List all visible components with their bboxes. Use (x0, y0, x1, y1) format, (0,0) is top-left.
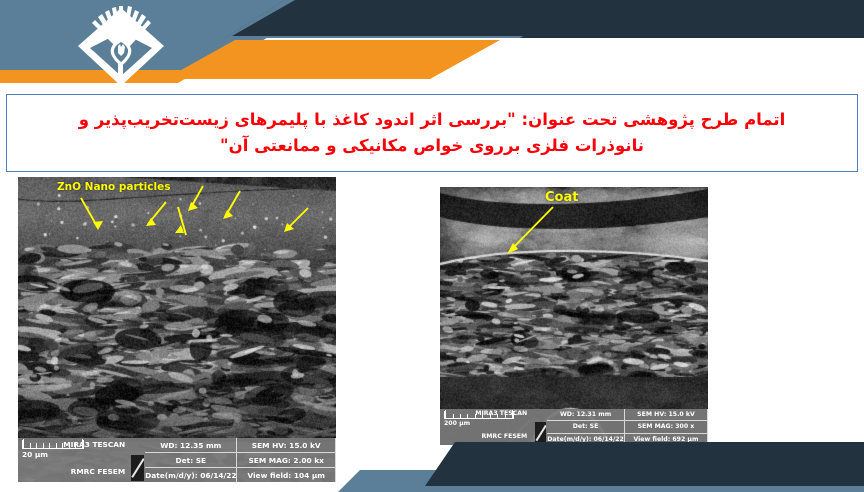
university-logo (72, 2, 170, 88)
sem-right-annotations (440, 187, 708, 445)
header-band (0, 0, 864, 88)
header-navy-top (232, 0, 864, 36)
title-box: اتمام طرح پژوهشی تحت عنوان: "بررسی اثر ا… (6, 94, 858, 172)
sem-right-infobar: SEM HV: 15.0 kV SEM MAG: 300 x View fiel… (440, 409, 708, 445)
sem-right-det: Det: SE (547, 421, 624, 433)
sem-left-annotations (18, 177, 336, 482)
footer-slate-shape (338, 470, 864, 492)
page-title: اتمام طرح پژوهشی تحت عنوان: "بررسی اثر ا… (71, 107, 794, 158)
sem-left-lab: RMRC FESEM (71, 467, 126, 476)
sem-left-wd: WD: 12.35 mm (145, 438, 236, 453)
sem-left-info-col-3: 20 µm MIRA3 TESCAN RMRC FESEM (18, 438, 145, 482)
sem-left-hv: SEM HV: 15.0 kV (237, 438, 335, 453)
title-line-2: نانوذرات فلزی برروی خواص مکانیکی و ممانع… (220, 136, 644, 155)
sem-left-label: ZnO Nano particles (57, 181, 170, 193)
title-line-1: اتمام طرح پژوهشی تحت عنوان: "بررسی اثر ا… (79, 110, 786, 129)
sem-right-date: Date(m/d/y): 06/14/22 (547, 434, 624, 445)
sem-left-date: Date(m/d/y): 06/14/22 (145, 468, 236, 482)
sem-left-det: Det: SE (145, 453, 236, 468)
sem-left-viewfield: View field: 104 µm (237, 468, 335, 482)
sem-right-info-col-3: 200 µm MIRA3 TESCAN RMRC FESEM (440, 409, 547, 445)
sem-right-hv: SEM HV: 15.0 kV (625, 409, 707, 421)
sem-right-viewfield: View field: 692 µm (625, 434, 707, 445)
sem-right-lab: RMRC FESEM (482, 433, 528, 440)
footer-navy-shape (425, 442, 864, 486)
sem-left-info-col-2: WD: 12.35 mm Det: SE Date(m/d/y): 06/14/… (145, 438, 237, 482)
sem-left-mag: SEM MAG: 2.00 kx (237, 453, 335, 468)
slide-root: اتمام طرح پژوهشی تحت عنوان: "بررسی اثر ا… (0, 0, 864, 492)
sem-image-left: ZnO Nano particles SEM HV: 15.0 kV SEM M… (18, 177, 336, 482)
sem-right-mag: SEM MAG: 300 x (625, 421, 707, 433)
sem-right-info-col-1: SEM HV: 15.0 kV SEM MAG: 300 x View fiel… (625, 409, 708, 445)
sem-right-instrument: MIRA3 TESCAN (475, 410, 527, 417)
sem-left-scale-value: 20 µm (22, 450, 84, 459)
tescan-mark-icon (535, 422, 546, 444)
sem-left-info-col-1: SEM HV: 15.0 kV SEM MAG: 2.00 kx View fi… (237, 438, 336, 482)
sem-left-instrument: MIRA3 TESCAN (63, 440, 125, 449)
sem-right-label: Coat (545, 190, 578, 205)
sem-image-right: Coat SEM HV: 15.0 kV SEM MAG: 300 x View… (440, 187, 708, 445)
tescan-mark-icon (131, 455, 144, 481)
sem-right-wd: WD: 12.31 mm (547, 409, 624, 421)
sem-left-infobar: SEM HV: 15.0 kV SEM MAG: 2.00 kx View fi… (18, 438, 336, 482)
sem-right-info-col-2: WD: 12.31 mm Det: SE Date(m/d/y): 06/14/… (547, 409, 625, 445)
sem-right-scale-value: 200 µm (444, 420, 514, 427)
emblem-icon (72, 2, 170, 88)
